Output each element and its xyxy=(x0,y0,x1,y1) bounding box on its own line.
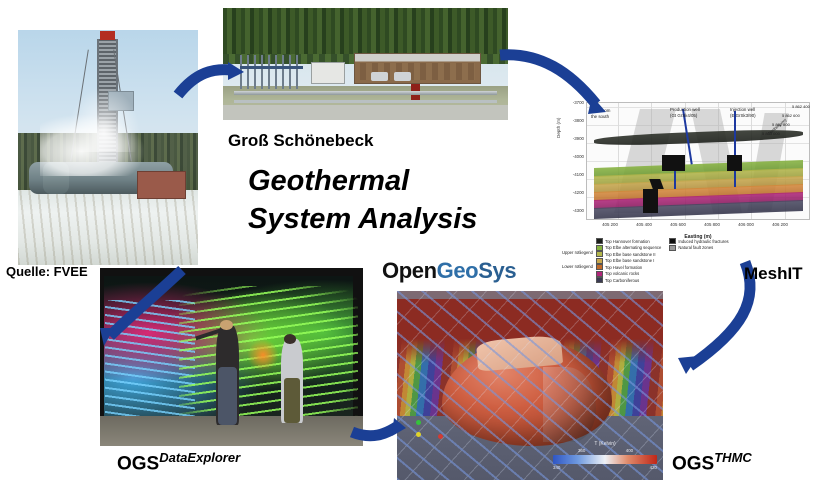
legend-swatch xyxy=(596,264,603,270)
legend-label: Top Havel formation xyxy=(605,265,642,270)
concrete-apron xyxy=(223,105,508,120)
legend-item: Top volcanic rocks xyxy=(596,271,661,277)
induced-fracture xyxy=(643,189,659,213)
person-head xyxy=(220,320,233,331)
legend-swatch xyxy=(596,258,603,264)
pipeline xyxy=(234,100,496,103)
pipe-rack xyxy=(240,55,303,89)
axis-point-x xyxy=(416,432,421,437)
person-observing xyxy=(281,339,302,423)
legend-item: Induced hydraulic fractures xyxy=(669,238,728,244)
x-tick: 405 600 xyxy=(661,222,695,227)
x-tick: 405 400 xyxy=(627,222,661,227)
steam-plume xyxy=(68,86,140,152)
thmc-simulation-render: T (Kelvin) 360 400 340 420 xyxy=(397,291,663,480)
legend-item: Top Elbe base sandstone I xyxy=(596,258,661,264)
legend-swatch xyxy=(596,271,603,277)
ogs-base: OGS xyxy=(117,453,159,474)
induced-fracture xyxy=(662,155,684,171)
geological-cross-section: Depth (m) -3700 -3800 -3900 -4000 -4100 … xyxy=(556,98,814,268)
ogs-superscript: DataExplorer xyxy=(159,450,240,465)
ogs-dataexplorer-label: OGSDataExplorer xyxy=(117,450,240,475)
y-tick: -4200 xyxy=(558,190,584,195)
legend-item: Top Havel formation xyxy=(596,264,661,270)
y-tick: -3900 xyxy=(558,136,584,141)
induced-fracture xyxy=(727,155,743,171)
view-direction-annotation: View fromthe south xyxy=(591,108,610,119)
legend-label: Top Carboniferous xyxy=(605,278,639,283)
colorbar-tick: 340 xyxy=(553,465,560,470)
northing-tick: 5 862 400 xyxy=(792,104,810,109)
source-credit: Quelle: FVEE xyxy=(6,264,88,279)
legend-label: Top Hannover formation xyxy=(605,239,650,244)
axis-point-z xyxy=(438,434,443,439)
colorbar-gradient xyxy=(553,455,657,464)
arrowhead-thmc xyxy=(678,356,698,374)
legend-label: Top volcanic rocks xyxy=(605,271,639,276)
plot-area: View fromthe south Production well(Gt Gr… xyxy=(586,102,810,220)
temperature-colorbar: T (Kelvin) 360 400 340 420 xyxy=(553,441,657,472)
legend-item: Natural fault zones xyxy=(669,245,728,251)
legend-column-features: Induced hydraulic fractures Natural faul… xyxy=(669,238,728,283)
legend-item: Top Hannover formation xyxy=(596,238,661,244)
ogs-superscript: THMC xyxy=(714,450,752,465)
hot-spot xyxy=(247,339,279,371)
northing-tick: 5 862 800 xyxy=(772,122,790,127)
legend-item: Top Carboniferous xyxy=(596,277,661,283)
colorbar-ticks-top: 360 400 xyxy=(553,448,657,455)
northing-tick: 5 862 600 xyxy=(782,113,800,118)
northing-tick: 5 863 000 xyxy=(762,131,780,136)
y-tick: -3800 xyxy=(558,118,584,123)
title-line-2: System Analysis xyxy=(248,203,477,235)
legend-swatch xyxy=(596,277,603,283)
legend-label: Natural fault zones xyxy=(678,245,713,250)
legend-swatch xyxy=(669,238,676,244)
page-title: Geothermal System Analysis xyxy=(248,162,477,239)
plant-building xyxy=(311,62,344,84)
person-head xyxy=(284,334,296,344)
legend-swatch xyxy=(596,238,603,244)
legend-column-formations: Top Hannover formation Top Elbe alternat… xyxy=(596,238,661,283)
opengeosys-logo: OpenGeoSys xyxy=(382,258,516,284)
parked-car xyxy=(394,72,411,81)
legend-label: Induced hydraulic fractures xyxy=(678,239,728,244)
colorbar-tick: 400 xyxy=(626,448,633,453)
parked-car xyxy=(371,72,388,81)
title-line-1: Geothermal xyxy=(248,165,409,197)
site-shed xyxy=(137,171,186,199)
legend-group-lower-rotliegend: Lower rotliegend xyxy=(562,264,593,269)
ogs-thmc-label: OGSTHMC xyxy=(672,450,752,475)
y-tick: -4300 xyxy=(558,208,584,213)
arrow-plant-to-crosssection xyxy=(500,55,596,104)
legend-swatch xyxy=(596,251,603,257)
legend-swatch xyxy=(596,245,603,251)
injection-well-annotation: Injection well(E GrSk3/90) xyxy=(730,107,756,118)
ogs-base: OGS xyxy=(672,453,714,474)
surface-plant-photo xyxy=(223,8,508,120)
forest-backdrop xyxy=(223,8,508,60)
x-tick: 406 200 xyxy=(763,222,797,227)
colorbar-title: T (Kelvin) xyxy=(553,441,657,447)
meshit-label: MeshIT xyxy=(744,264,803,284)
production-well-annotation: Production well(Gt GrSk4/05) xyxy=(670,107,700,118)
data-explorer-photo xyxy=(100,268,363,446)
logo-part-open: Open xyxy=(382,258,437,283)
colorbar-tick: 360 xyxy=(578,448,585,453)
person-pointing xyxy=(216,325,240,425)
poster-canvas: Depth (m) -3700 -3800 -3900 -4000 -4100 … xyxy=(0,0,822,486)
colorbar-tick: 420 xyxy=(650,465,657,470)
axis-point-y xyxy=(416,420,421,425)
legend-group-upper-rotliegend: Upper rotliegend xyxy=(562,250,593,255)
logo-part-geo: Geo xyxy=(437,258,479,283)
site-label: Groß Schönebeck xyxy=(228,131,373,151)
pipeline xyxy=(234,91,496,95)
legend-swatch xyxy=(669,245,676,251)
x-tick: 405 800 xyxy=(695,222,729,227)
plot-frame xyxy=(586,102,810,220)
x-tick: 405 200 xyxy=(593,222,627,227)
snow-field xyxy=(18,190,198,265)
x-tick: 406 000 xyxy=(729,222,763,227)
y-tick: -4100 xyxy=(558,172,584,177)
legend-label: Top Elbe base sandstone I xyxy=(605,258,654,263)
legend-item: Top Elbe alternating sequence xyxy=(596,245,661,251)
legend-label: Top Elbe alternating sequence xyxy=(605,245,661,250)
drilling-rig-photo xyxy=(18,30,198,265)
logo-part-sys: Sys xyxy=(478,258,516,283)
legend-item: Top Elbe base sandstone II xyxy=(596,251,661,257)
y-tick: -3700 xyxy=(558,100,584,105)
injection-well-track xyxy=(734,111,736,187)
legend-label: Top Elbe base sandstone II xyxy=(605,252,656,257)
colorbar-ticks-bottom: 340 420 xyxy=(553,465,657,472)
axis-marker xyxy=(416,420,450,450)
y-tick: -4000 xyxy=(558,154,584,159)
